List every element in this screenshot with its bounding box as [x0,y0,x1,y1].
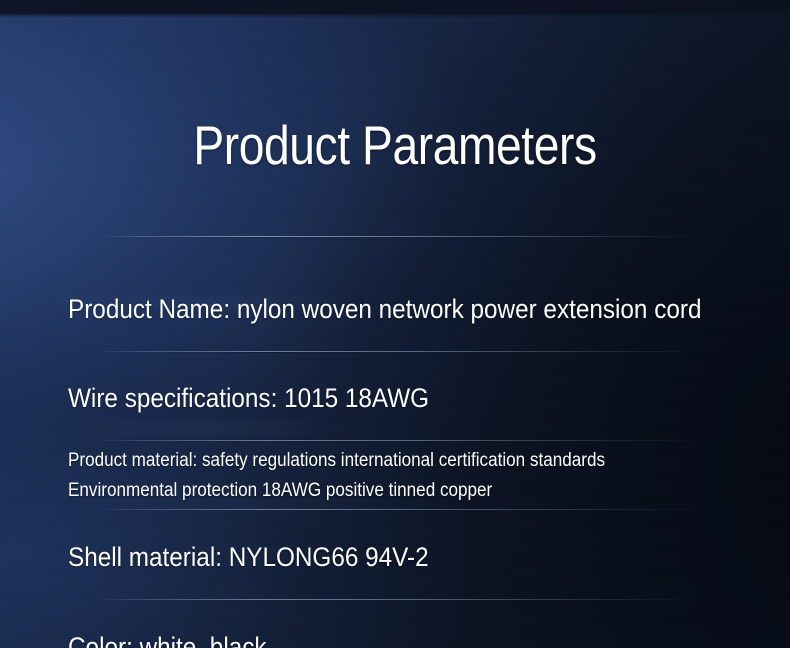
spec-divider [95,599,700,600]
spec-text: Color: white, black [68,632,267,648]
spec-text: Product Name: nylon woven network power … [68,294,701,324]
spacer [0,334,790,351]
spec-row-shell-material: Shell material: NYLONG66 94V-2 [0,532,790,582]
spacer [0,423,790,440]
spec-text: Wire specifications: 1015 18AWG [68,383,429,413]
spec-list: Product Name: nylon woven network power … [0,236,790,648]
spec-text: Environmental protection 18AWG positive … [68,480,718,501]
spec-text: Shell material: NYLONG66 94V-2 [68,542,429,572]
spec-row-product-material: Product material: safety regulations int… [0,441,790,509]
spec-divider [95,351,700,352]
spec-text: Product material: safety regulations int… [68,450,718,471]
banner-content: Product Parameters Product Name: nylon w… [0,0,790,648]
spec-row-product-name: Product Name: nylon woven network power … [0,284,790,334]
spacer [0,510,790,532]
spec-row-wire-specifications: Wire specifications: 1015 18AWG [0,373,790,423]
spacer [0,582,790,599]
spacer [0,352,790,373]
product-parameters-banner: Product Parameters Product Name: nylon w… [0,0,790,648]
page-title: Product Parameters [63,112,727,178]
spec-divider [95,440,700,441]
spec-row-color: Color: white, black [0,622,790,648]
spec-divider [95,509,700,510]
spacer [0,237,790,284]
spacer [0,600,790,622]
spec-divider [95,236,700,237]
